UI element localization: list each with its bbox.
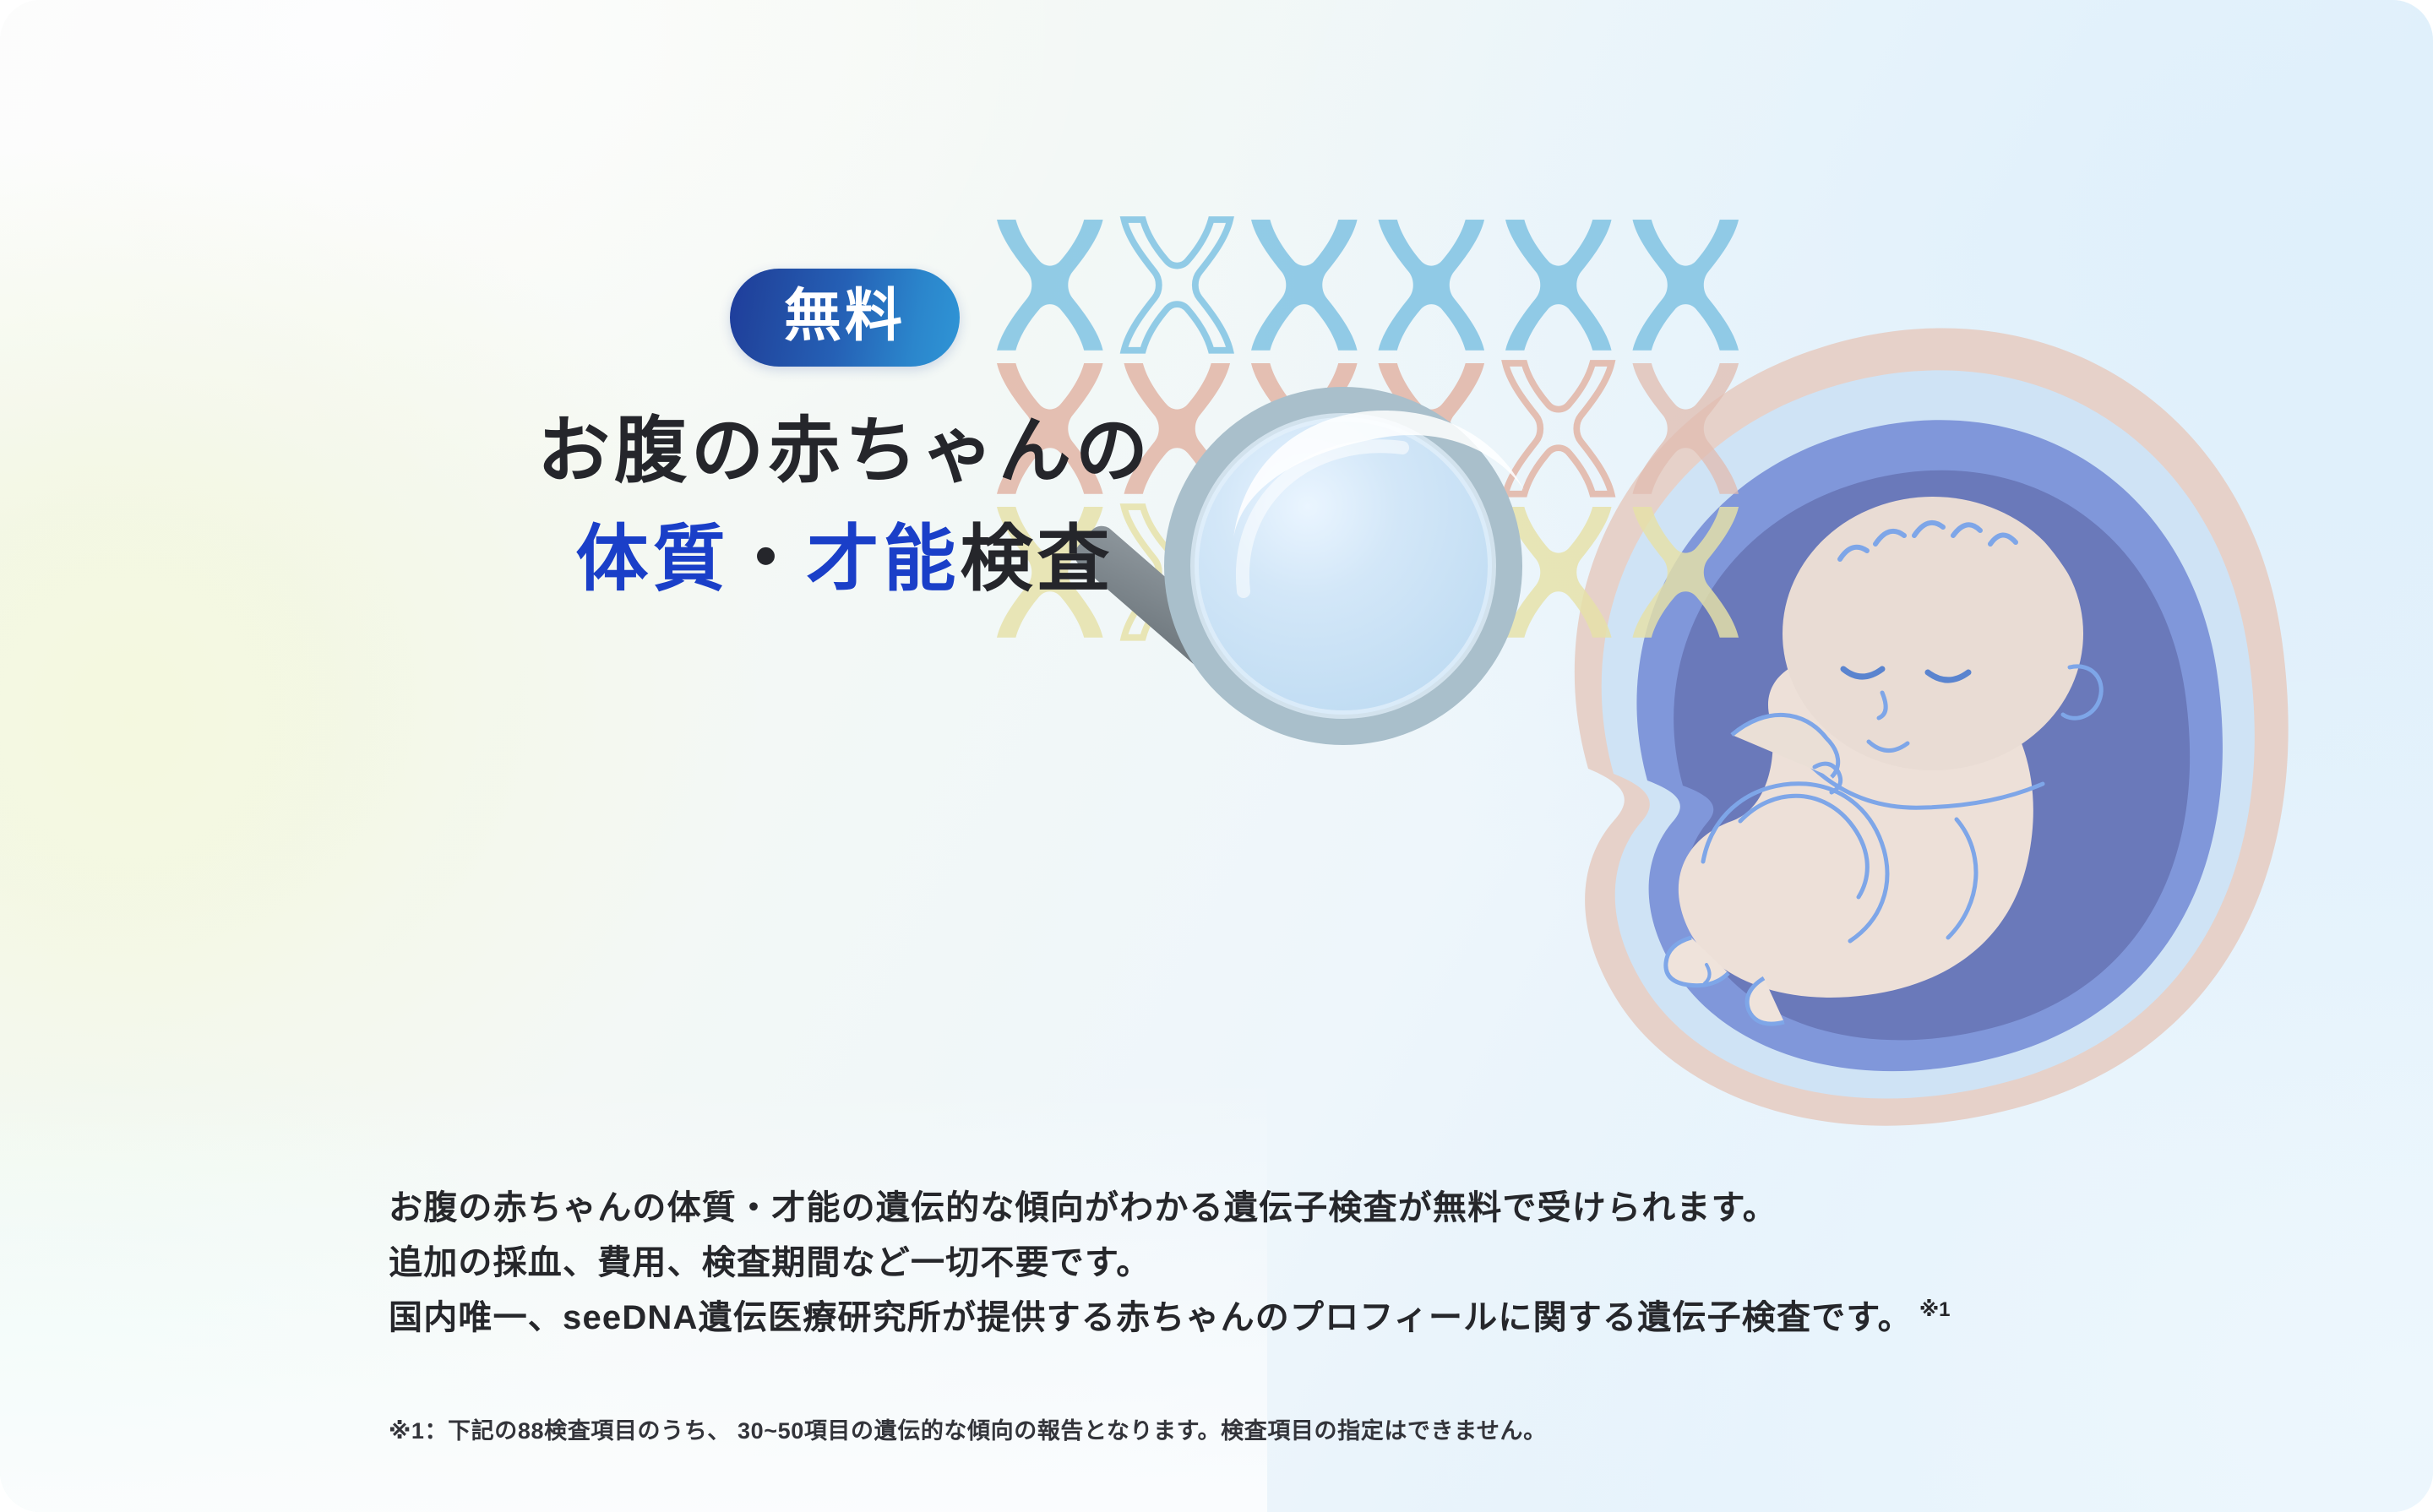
hero-text-column: 無料 お腹の赤ちゃんの 体質・才能検査 [397,269,1293,607]
page-title-part-sainou: 才能 [807,519,961,600]
page-title-part-separator: ・ [730,519,807,600]
hero-card: 無料 お腹の赤ちゃんの 体質・才能検査 お腹の赤ちゃんの体質・才能の遺伝的な傾向… [0,0,2433,1512]
page-title: お腹の赤ちゃんの 体質・才能検査 [397,404,1293,607]
body-copy-line-3-text: 国内唯一、seeDNA遺伝医療研究所が提供する赤ちゃんのプロフィールに関する遺伝… [389,1299,1913,1336]
page-title-line-1: お腹の赤ちゃんの [397,404,1293,500]
body-copy: お腹の赤ちゃんの体質・才能の遺伝的な傾向がわかる遺伝子検査が無料で受けられます。… [389,1181,1951,1345]
page-title-part-taishitsu: 体質 [576,519,730,600]
page-title-part-kensa: 検査 [961,519,1114,600]
page-title-line-2: 体質・才能検査 [397,512,1293,608]
footnote-marker: ※1 [1919,1298,1951,1321]
free-badge: 無料 [730,269,960,367]
body-copy-line-1: お腹の赤ちゃんの体質・才能の遺伝的な傾向がわかる遺伝子検査が無料で受けられます。 [389,1181,1951,1236]
footnote-text: ※1：下記の88検査項目のうち、 30~50項目の遺伝的な傾向の報告となります。… [389,1412,1547,1445]
body-copy-line-3: 国内唯一、seeDNA遺伝医療研究所が提供する赤ちゃんのプロフィールに関する遺伝… [389,1291,1951,1346]
body-copy-line-2: 追加の採血、費用、検査期間など一切不要です。 [389,1236,1951,1291]
